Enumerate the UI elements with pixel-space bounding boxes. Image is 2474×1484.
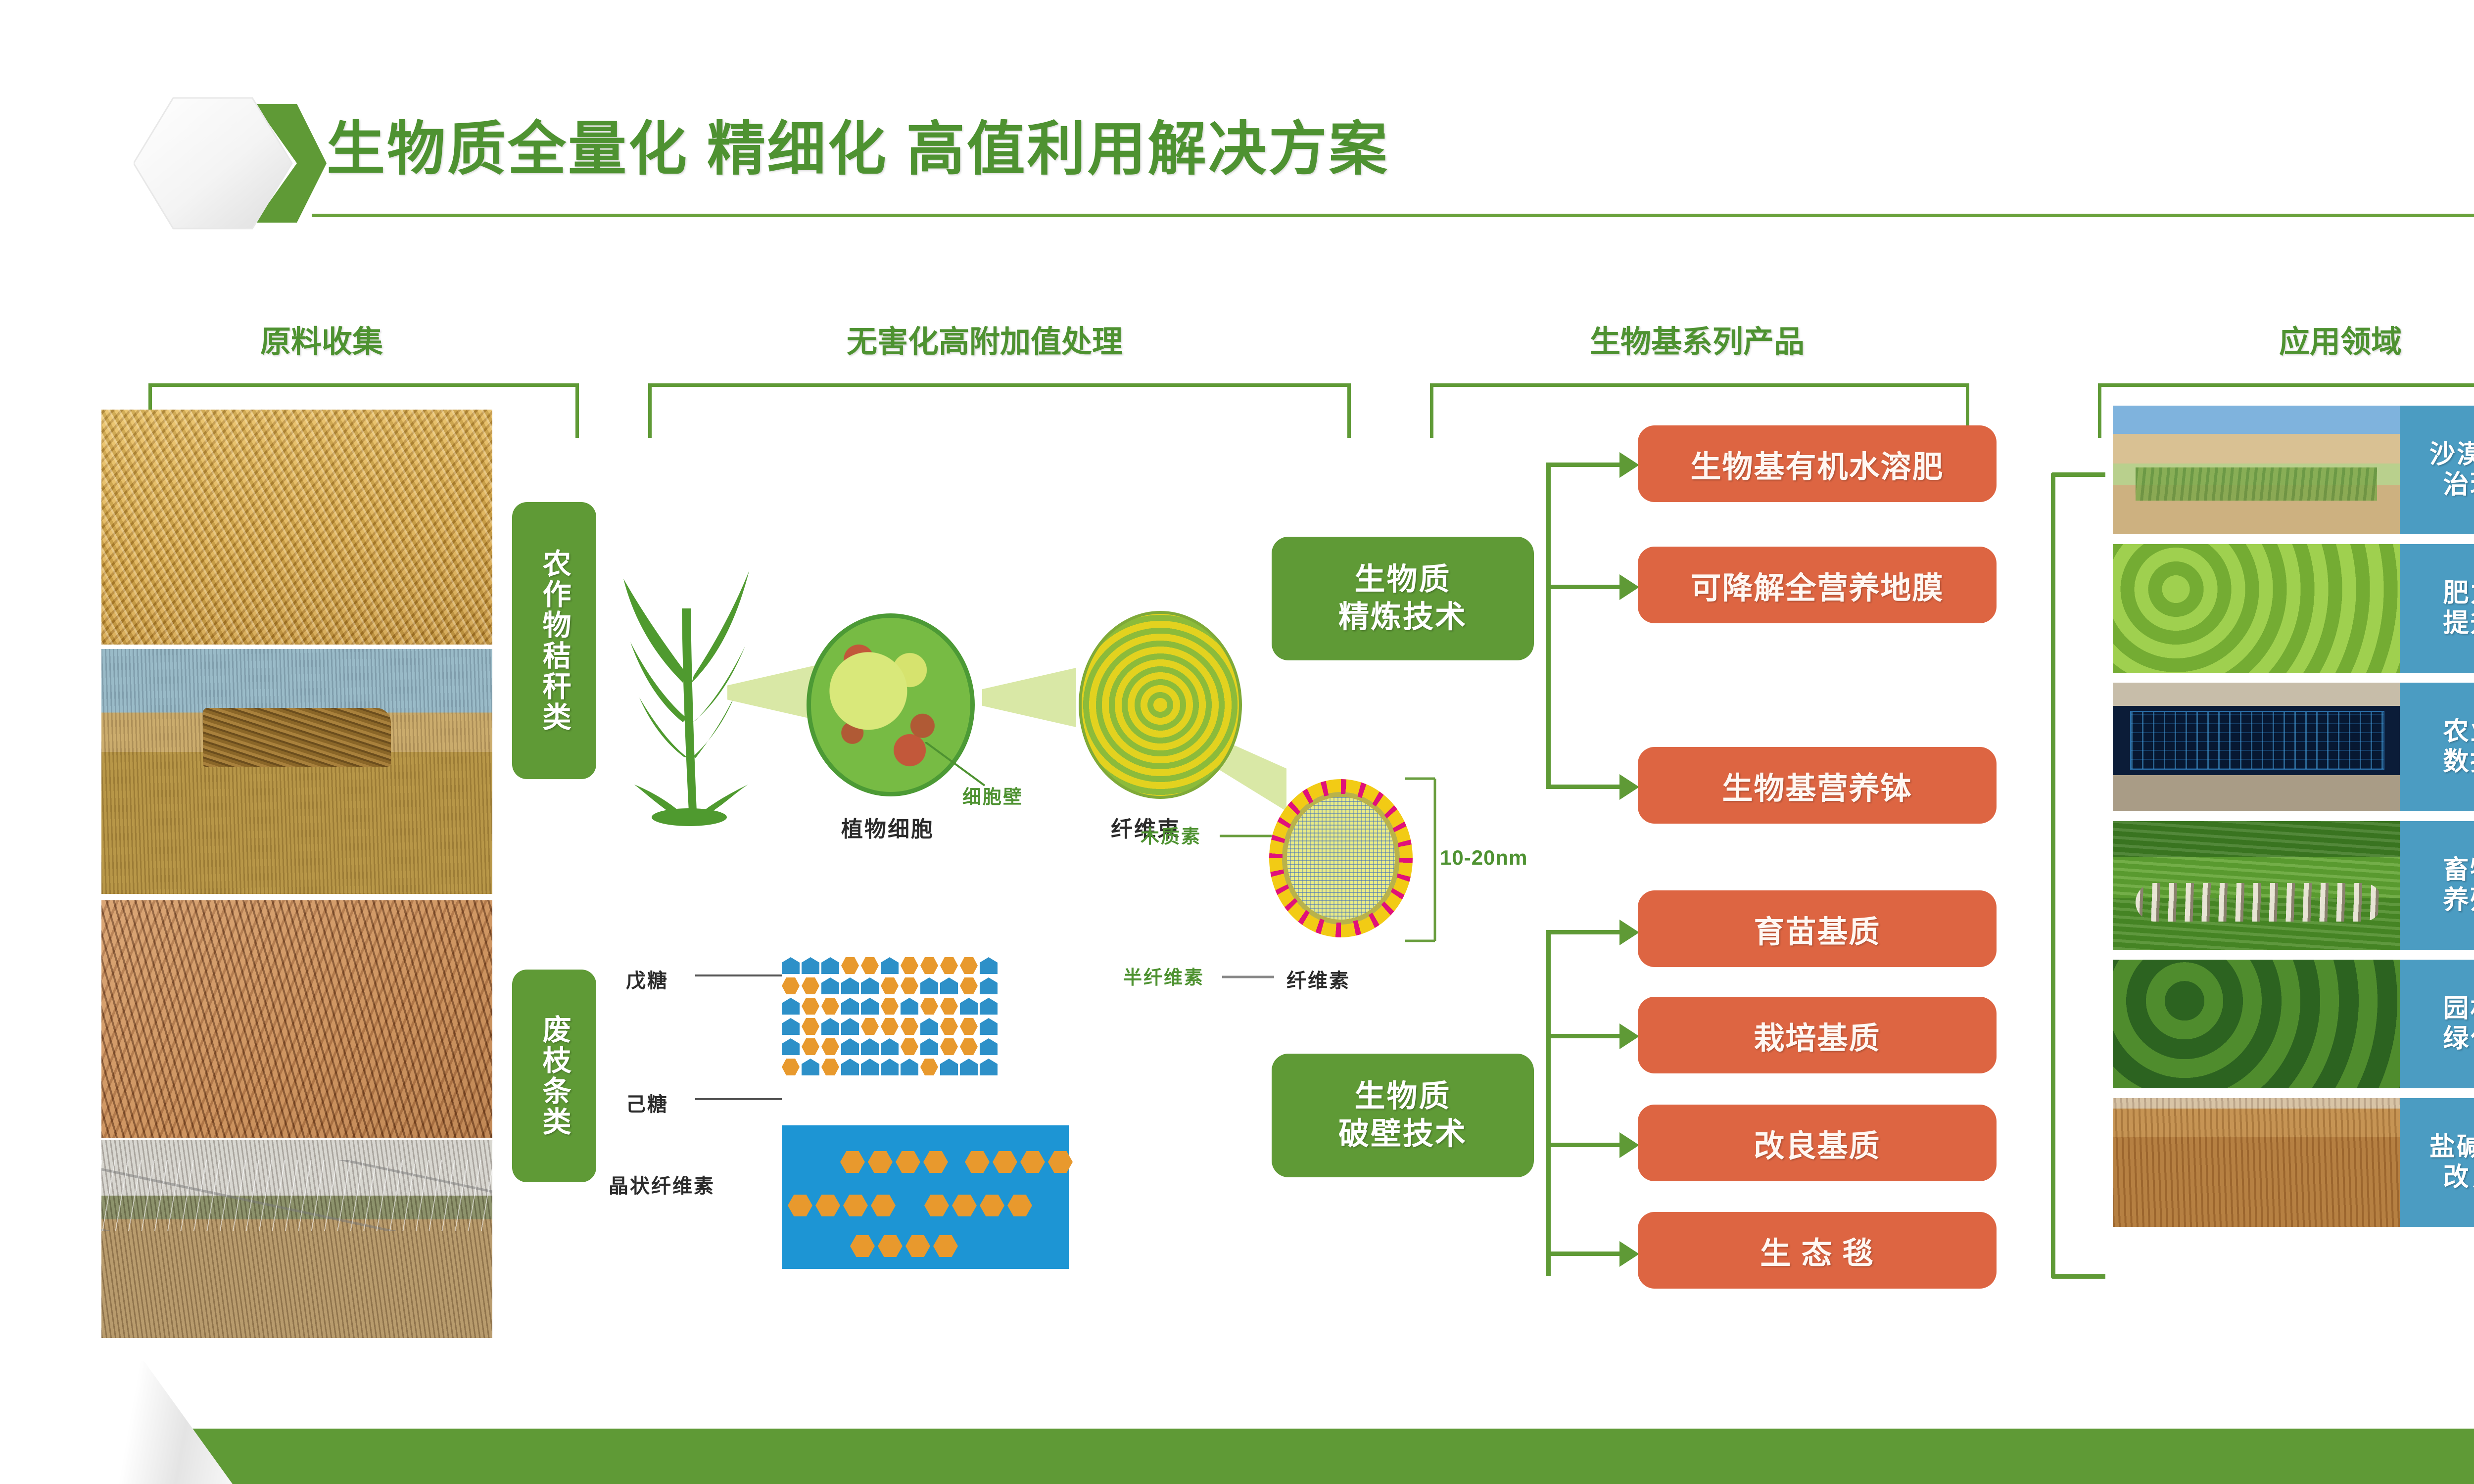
arrow-refining-3 xyxy=(1619,774,1639,800)
dimension-bracket-10-20nm xyxy=(1405,776,1445,944)
footer-bar xyxy=(0,1429,2474,1484)
label-cellulose: 纤维素 xyxy=(1286,965,1350,993)
product-box-degradable-nutrient-film[interactable]: 可降解全营养地膜 xyxy=(1638,547,1997,623)
connector-branch-wb-4 xyxy=(1546,1252,1620,1256)
lignin-leader-line xyxy=(1220,831,1274,841)
photo-cabbage-field xyxy=(2113,544,2400,673)
section-header-collection: 原料收集 xyxy=(163,317,480,361)
label-crystalline-cellulose: 晶状纤维素 xyxy=(609,1170,715,1199)
hexose-leader-line xyxy=(695,1098,782,1100)
photo-saline-soil-field xyxy=(2113,1098,2400,1227)
label-lignin: 木质素 xyxy=(1141,821,1201,848)
zoom-beam-2 xyxy=(982,668,1076,727)
product-box-biobased-nutrient-pot[interactable]: 生物基营养钵 xyxy=(1638,747,1997,824)
fiber-bundle-illustration xyxy=(1079,611,1242,799)
section-header-products: 生物基系列产品 xyxy=(1385,317,2009,361)
title-bar: 生物质全量化 精细化 高值利用解决方案 xyxy=(0,0,2474,247)
label-plant-cell: 植物细胞 xyxy=(841,811,934,843)
app-line-2: 治理 xyxy=(2443,470,2474,500)
application-label-livestock-breeding: 畜牧 养殖 xyxy=(2400,821,2474,950)
arrow-wb-3 xyxy=(1619,1132,1639,1158)
hexagon-logo-icon xyxy=(134,84,327,242)
tech-box-biomass-wall-breaking[interactable]: 生物质 破壁技术 xyxy=(1272,1054,1534,1177)
app-line-1: 沙漠化 xyxy=(2429,440,2474,470)
product-box-organic-water-soluble-fertilizer[interactable]: 生物基有机水溶肥 xyxy=(1638,425,1997,502)
product-box-improvement-substrate[interactable]: 改良基质 xyxy=(1638,1105,1997,1181)
footer-wedge-decoration xyxy=(0,1331,233,1484)
connector-trunk-refining xyxy=(1546,463,1551,789)
app-line-1: 畜牧 xyxy=(2443,855,2474,885)
app-line-2: 绿化 xyxy=(2443,1024,2474,1054)
photo-straw-bale-field xyxy=(101,649,492,894)
app-line-2: 数据 xyxy=(2443,747,2474,777)
cellulose-cross-section-illustration xyxy=(1269,779,1413,937)
arrow-refining-1 xyxy=(1619,452,1639,478)
app-line-1: 园林 xyxy=(2443,994,2474,1024)
product-box-seedling-substrate[interactable]: 育苗基质 xyxy=(1638,890,1997,967)
section-header-applications: 应用领域 xyxy=(2093,317,2474,361)
plant-illustration-icon xyxy=(609,534,772,826)
photo-sheep-pasture xyxy=(2113,821,2400,950)
app-line-2: 提升 xyxy=(2443,608,2474,639)
crystalline-cellulose-illustration xyxy=(782,1125,1069,1269)
photo-orchard-pruning xyxy=(101,1140,492,1338)
tech-box-biomass-refining[interactable]: 生物质 精炼技术 xyxy=(1272,537,1534,660)
pentose-leader-line xyxy=(695,974,782,976)
photo-data-control-room xyxy=(2113,683,2400,811)
page-title: 生物质全量化 精细化 高值利用解决方案 xyxy=(327,101,1389,186)
label-hemicellulose: 半纤维素 xyxy=(1123,962,1204,989)
product-box-ecological-blanket[interactable]: 生 态 毯 xyxy=(1638,1212,1997,1289)
connector-branch-wb-3 xyxy=(1546,1143,1620,1147)
tech-line-1: 生物质 xyxy=(1354,1078,1451,1115)
application-label-agriculture-data: 农业 数据 xyxy=(2400,683,2474,811)
app-line-2: 改良 xyxy=(2443,1162,2474,1193)
photo-corn-straw-pile xyxy=(101,410,492,645)
label-hexose: 己糖 xyxy=(626,1088,668,1117)
photo-park-greenery xyxy=(2113,960,2400,1088)
app-line-1: 肥力 xyxy=(2443,578,2474,608)
connector-branch-wb-1 xyxy=(1546,930,1620,934)
connector-branch-refining-3 xyxy=(1546,785,1620,789)
tech-line-2: 精炼技术 xyxy=(1338,599,1467,636)
app-line-2: 养殖 xyxy=(2443,885,2474,916)
arrow-refining-2 xyxy=(1619,574,1639,600)
photo-desert-restoration xyxy=(2113,406,2400,534)
connector-branch-refining-2 xyxy=(1546,585,1620,589)
arrow-wb-1 xyxy=(1619,920,1639,945)
application-label-fertility-improvement: 肥力 提升 xyxy=(2400,544,2474,673)
application-bracket xyxy=(2051,472,2105,1279)
app-line-1: 盐碱地 xyxy=(2429,1132,2474,1162)
connector-trunk-wallbreaking xyxy=(1546,930,1551,1276)
connector-branch-wb-2 xyxy=(1546,1034,1620,1038)
section-header-processing: 无害化高附加值处理 xyxy=(614,317,1356,361)
product-box-cultivation-substrate[interactable]: 栽培基质 xyxy=(1638,997,1997,1073)
title-underline xyxy=(312,214,2474,217)
application-label-saline-alkali-improvement: 盐碱地 改良 xyxy=(2400,1098,2474,1227)
application-label-desert-restoration: 沙漠化 治理 xyxy=(2400,406,2474,534)
sugar-chain-illustration xyxy=(782,957,1069,1106)
connector-branch-refining-1 xyxy=(1546,463,1620,467)
hemicellulose-leader-line xyxy=(1222,972,1277,982)
application-label-landscape-greening: 园林 绿化 xyxy=(2400,960,2474,1088)
photo-dry-branches xyxy=(101,900,492,1138)
label-scale-nm: 10-20nm xyxy=(1440,846,1527,870)
label-pentose: 戊糖 xyxy=(626,965,668,993)
cell-wall-leader-line xyxy=(925,742,990,791)
app-line-1: 农业 xyxy=(2443,717,2474,747)
tech-line-2: 破壁技术 xyxy=(1338,1115,1467,1153)
section-bracket-processing xyxy=(648,383,1351,438)
arrow-wb-4 xyxy=(1619,1241,1639,1267)
tech-line-1: 生物质 xyxy=(1354,561,1451,599)
arrow-wb-2 xyxy=(1619,1023,1639,1049)
